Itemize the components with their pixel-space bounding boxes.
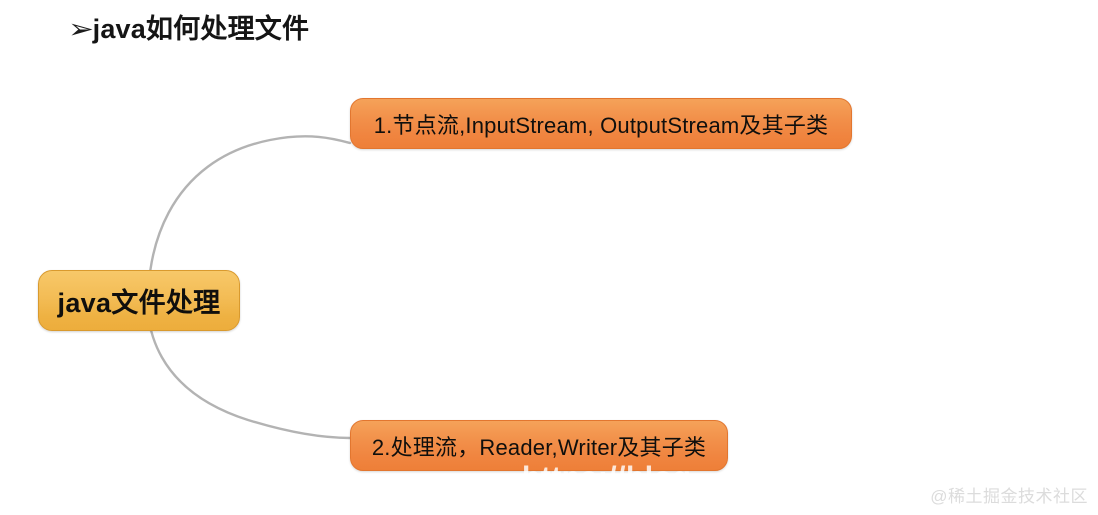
- mindmap-node-label: 2.处理流，Reader,Writer及其子类: [372, 430, 706, 462]
- mindmap-node-label: 1.节点流,InputStream, OutputStream及其子类: [374, 108, 828, 140]
- page-title: ➢ java如何处理文件: [68, 16, 309, 43]
- diagram-canvas: ➢ java如何处理文件 java文件处理 1.节点流,InputStream,…: [0, 0, 1098, 515]
- page-title-text: java如何处理文件: [93, 16, 310, 43]
- brand-watermark: @稀土掘金技术社区: [930, 482, 1088, 507]
- url-watermark: https://blog.: [522, 462, 700, 480]
- mindmap-node-node-stream[interactable]: 1.节点流,InputStream, OutputStream及其子类: [350, 98, 852, 149]
- mindmap-root-node[interactable]: java文件处理: [38, 270, 240, 331]
- mindmap-root-label: java文件处理: [58, 281, 221, 320]
- arrow-bullet-icon: ➢: [68, 16, 94, 43]
